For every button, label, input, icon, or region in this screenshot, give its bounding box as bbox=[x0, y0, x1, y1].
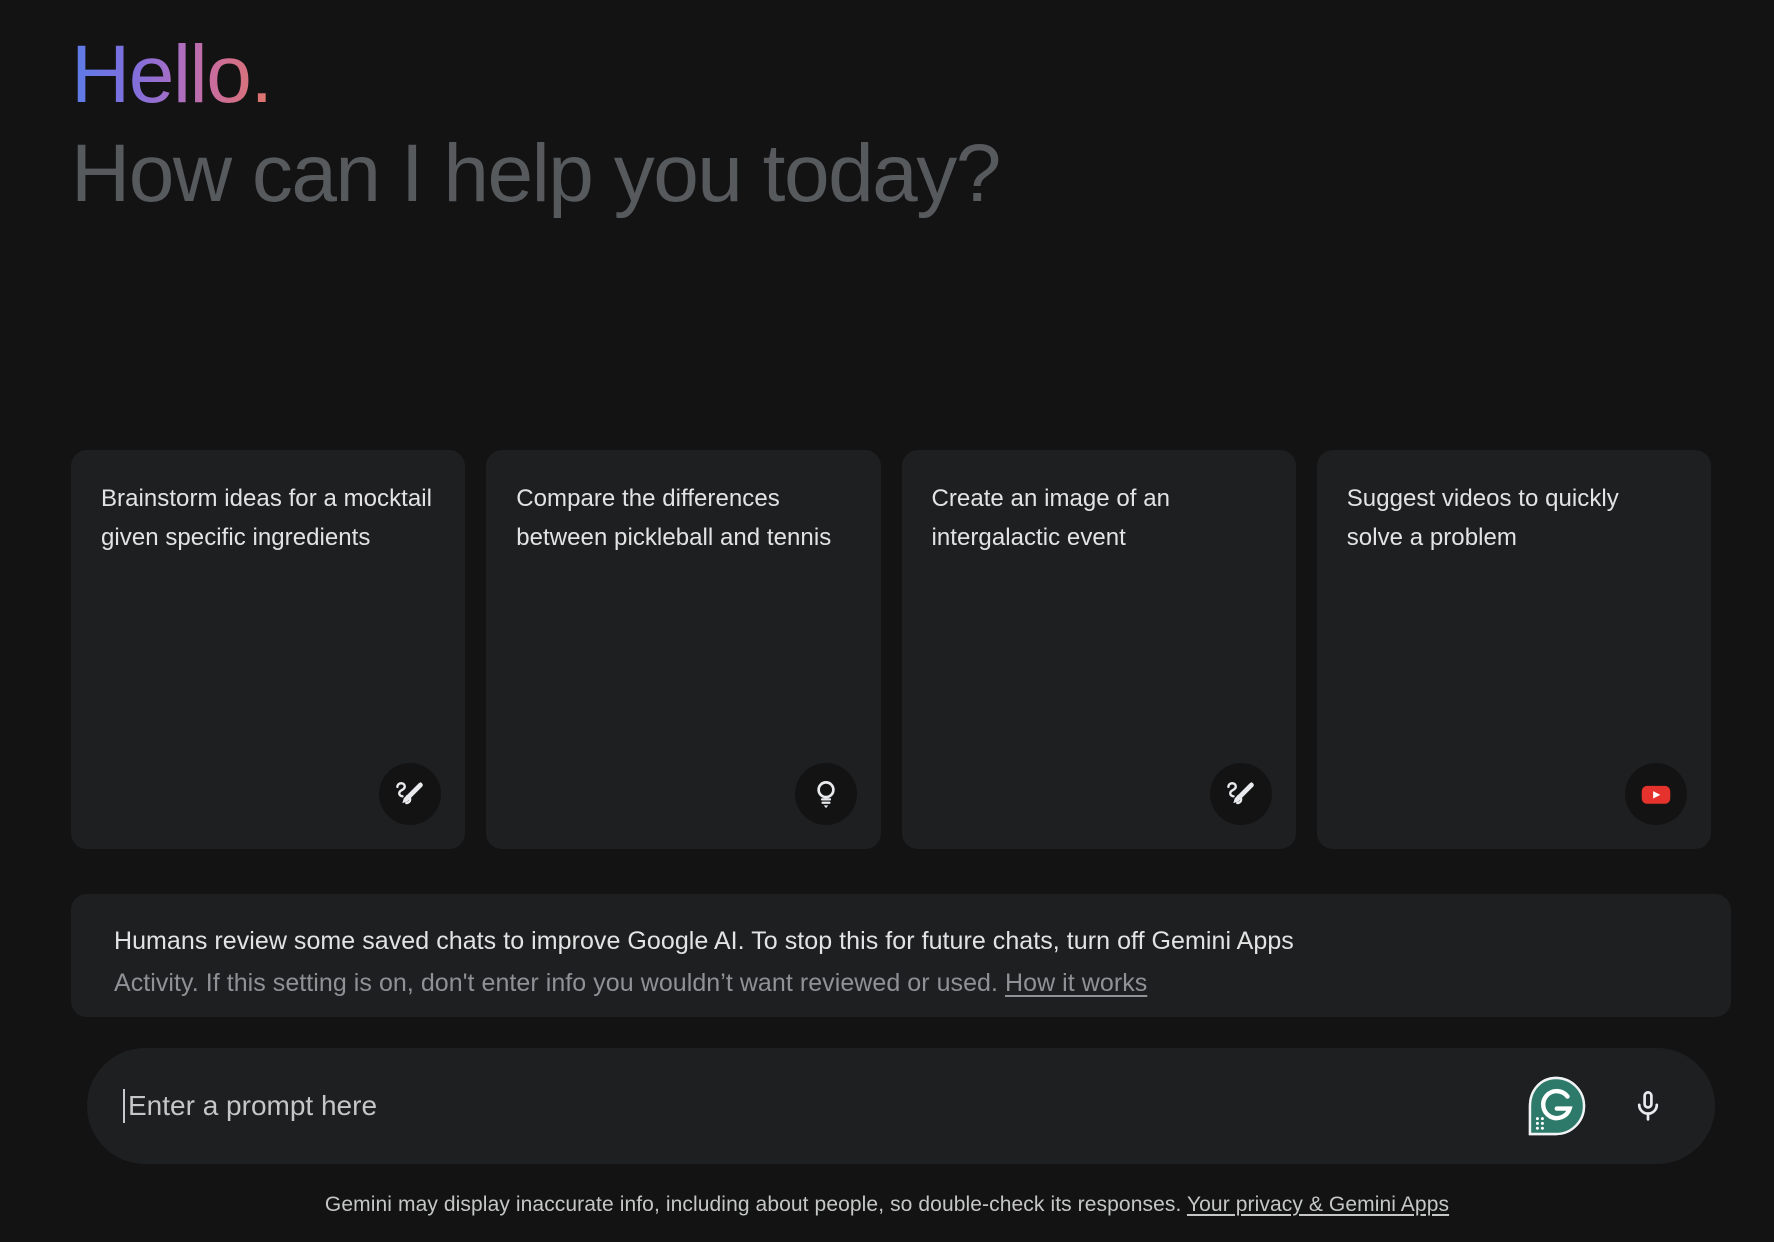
suggestion-card-create-image[interactable]: Create an image of an intergalactic even… bbox=[902, 450, 1296, 849]
grammarly-icon[interactable] bbox=[1525, 1075, 1587, 1137]
disclaimer-line-2: Activity. If this setting is on, don't e… bbox=[114, 966, 1691, 1001]
footer-disclaimer: Gemini may display inaccurate info, incl… bbox=[0, 1193, 1774, 1217]
draw-icon[interactable] bbox=[379, 763, 441, 825]
draw-icon[interactable] bbox=[1210, 763, 1272, 825]
suggestion-card-compare-pickleball-tennis[interactable]: Compare the differences between pickleba… bbox=[486, 450, 880, 849]
suggestion-card-suggest-videos[interactable]: Suggest videos to quickly solve a proble… bbox=[1317, 450, 1711, 849]
suggestion-card-text: Compare the differences between pickleba… bbox=[516, 480, 850, 558]
greeting-block: Hello. How can I help you today? bbox=[71, 34, 1711, 219]
greeting-hello: Hello. bbox=[71, 34, 272, 116]
text-cursor-caret bbox=[123, 1089, 125, 1123]
disclaimer-line-2-text: Activity. If this setting is on, don't e… bbox=[114, 969, 1005, 997]
suggestion-card-text: Brainstorm ideas for a mocktail given sp… bbox=[101, 480, 435, 558]
greeting-question: How can I help you today? bbox=[71, 130, 1711, 219]
prompt-input[interactable]: Enter a prompt here bbox=[123, 1048, 1525, 1164]
privacy-link[interactable]: Your privacy & Gemini Apps bbox=[1187, 1193, 1449, 1216]
prompt-input-placeholder: Enter a prompt here bbox=[128, 1090, 377, 1122]
suggestion-cards-row: Brainstorm ideas for a mocktail given sp… bbox=[71, 450, 1711, 849]
microphone-icon[interactable] bbox=[1623, 1081, 1673, 1131]
footer-text: Gemini may display inaccurate info, incl… bbox=[325, 1193, 1187, 1216]
privacy-disclaimer-panel: Humans review some saved chats to improv… bbox=[71, 894, 1731, 1017]
input-actions bbox=[1525, 1075, 1673, 1137]
disclaimer-line-1: Humans review some saved chats to improv… bbox=[114, 924, 1691, 959]
how-it-works-link[interactable]: How it works bbox=[1005, 969, 1147, 997]
youtube-icon[interactable] bbox=[1625, 763, 1687, 825]
prompt-input-bar[interactable]: Enter a prompt here bbox=[87, 1048, 1715, 1164]
suggestion-card-text: Suggest videos to quickly solve a proble… bbox=[1347, 480, 1681, 558]
suggestion-card-text: Create an image of an intergalactic even… bbox=[932, 480, 1266, 558]
suggestion-card-brainstorm-mocktail[interactable]: Brainstorm ideas for a mocktail given sp… bbox=[71, 450, 465, 849]
lightbulb-icon[interactable] bbox=[795, 763, 857, 825]
